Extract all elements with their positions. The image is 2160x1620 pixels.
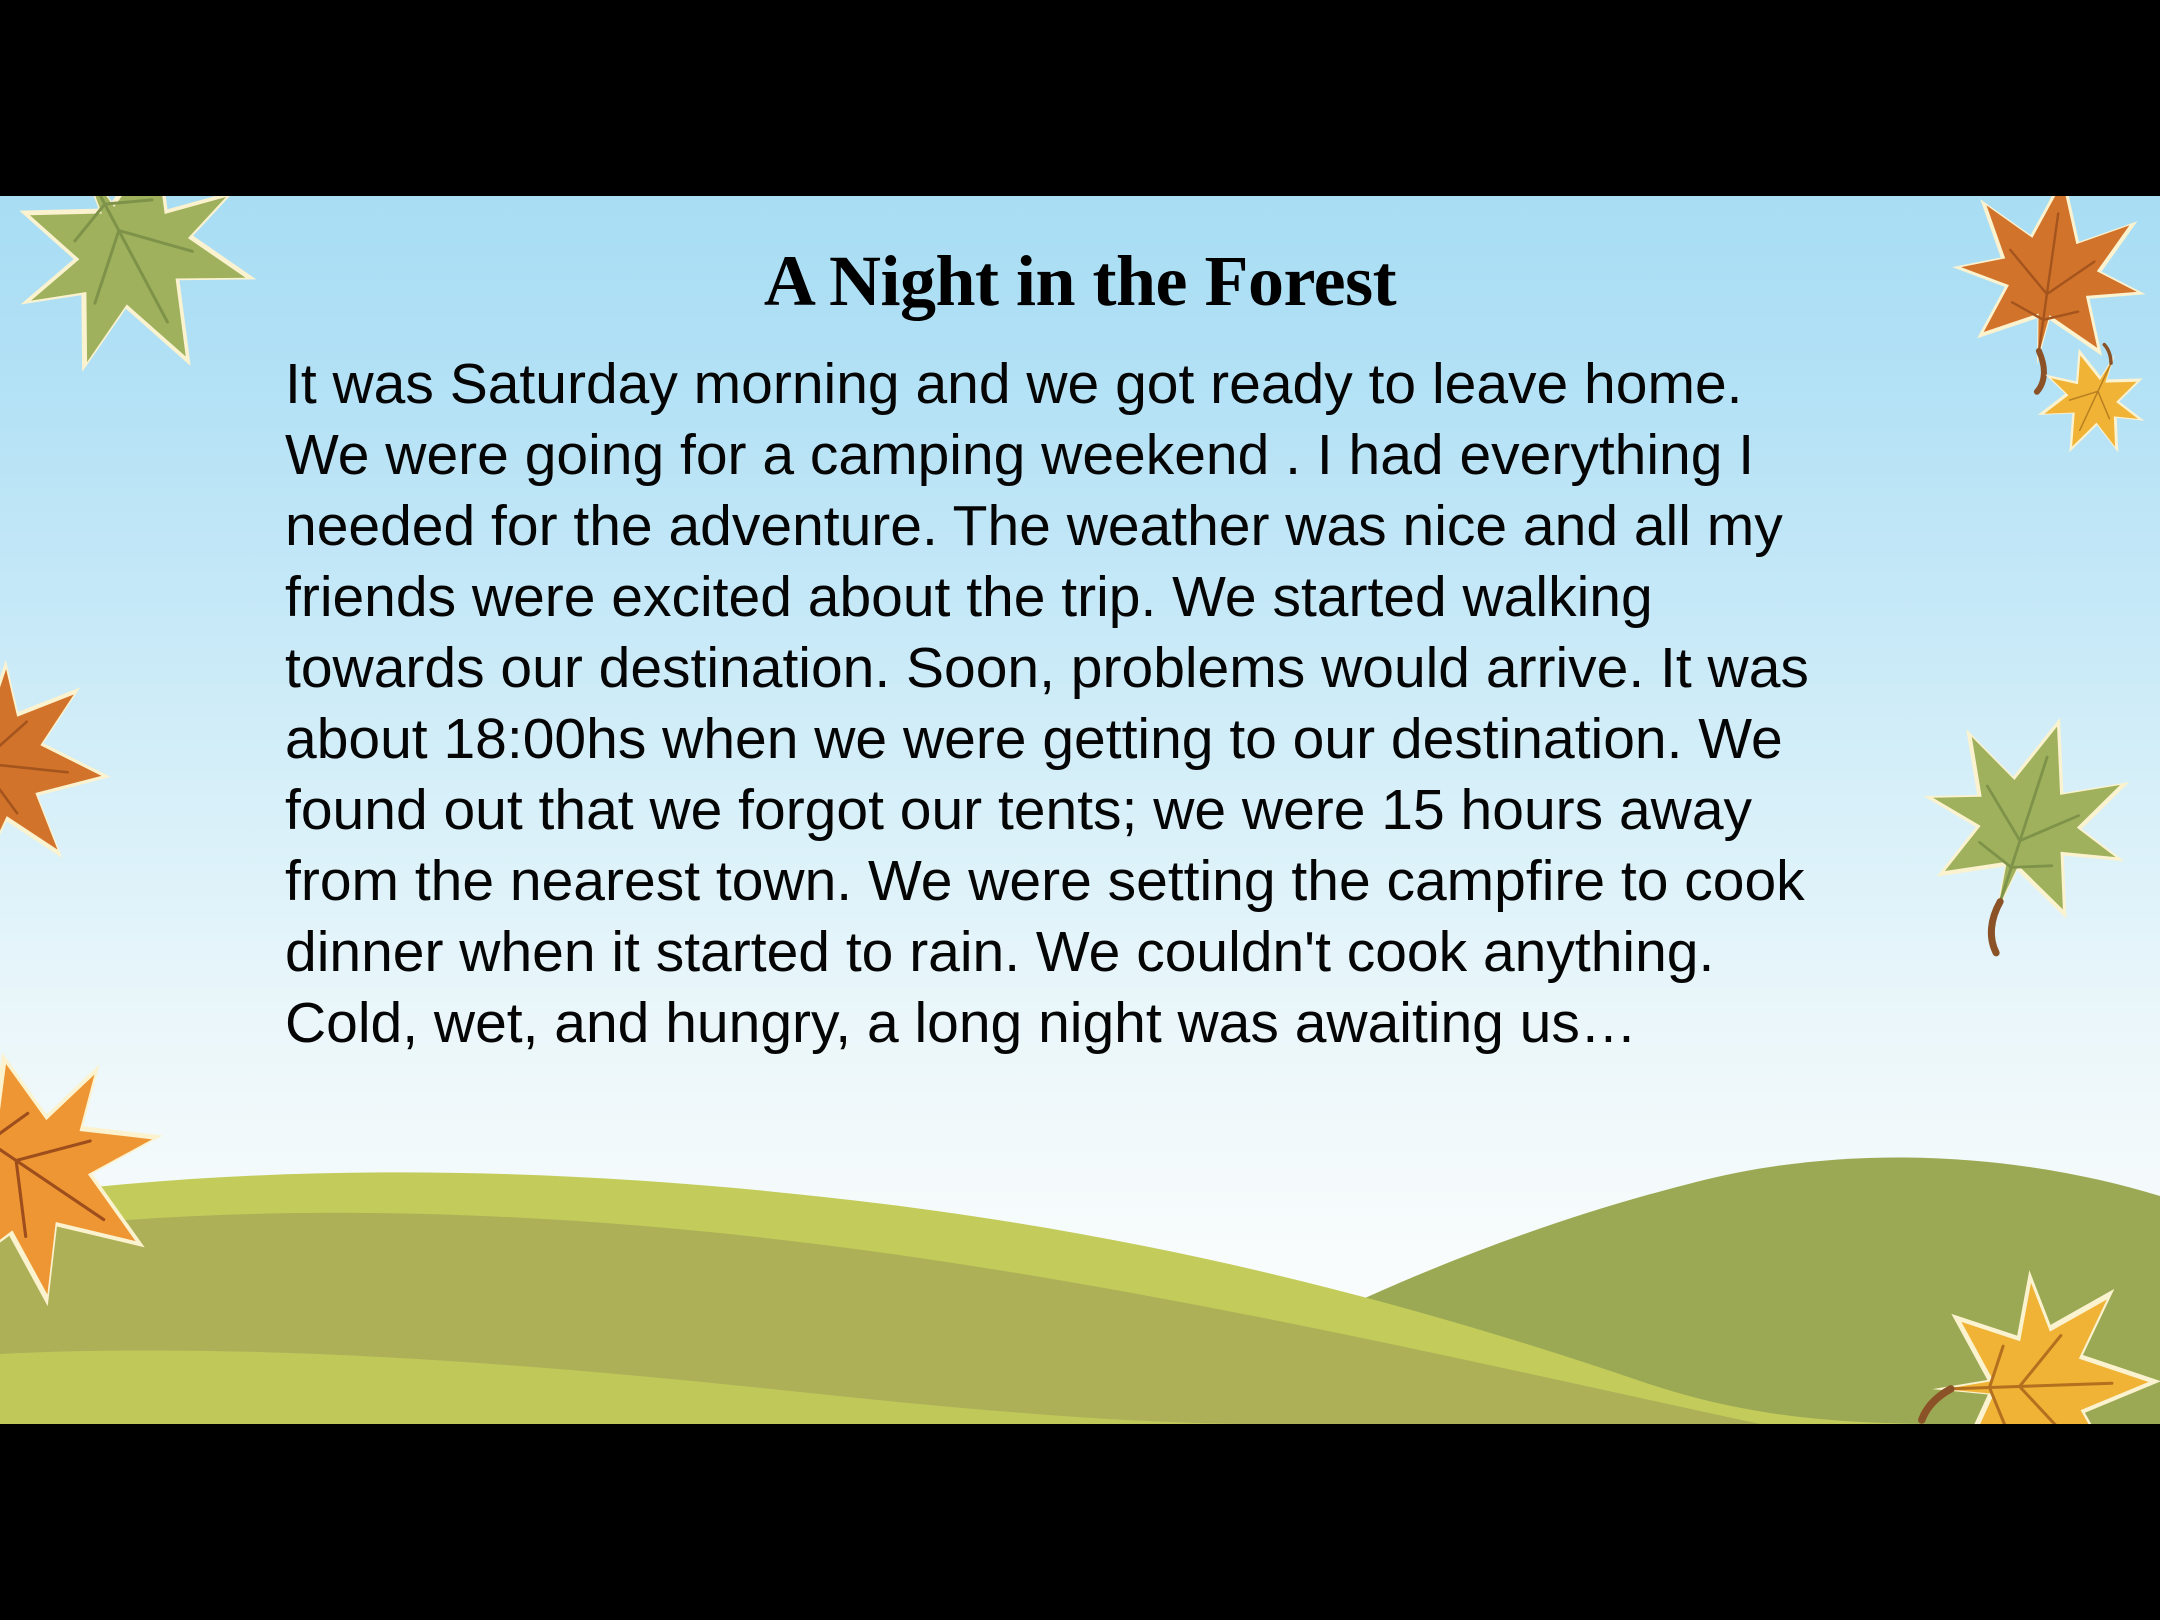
leaf-green-top-left [20, 196, 250, 376]
leaf-orange-bottom-left [0, 1058, 162, 1298]
letterbox-bottom [0, 1424, 2160, 1620]
orange-maple-leaf-icon [0, 666, 108, 866]
leaf-body [0, 1018, 200, 1337]
green-maple-leaf-icon [20, 196, 250, 376]
leaf-stem [1921, 1389, 1952, 1420]
decorative-leaves-layer [0, 196, 2160, 1424]
green-maple-leaf-icon [1928, 716, 2128, 916]
slide-frame: A Night in the Forest It was Saturday mo… [0, 0, 2160, 1620]
orange-maple-leaf-icon [1958, 196, 2143, 361]
leaf-stem [1983, 901, 2011, 953]
leaf-orange-left-edge [0, 666, 108, 866]
yellow-maple-leaf-icon [2042, 354, 2142, 454]
leaf-orange-top-right [1958, 196, 2143, 361]
orange-maple-leaf-icon [0, 1058, 162, 1298]
leaf-yellow-bottom-right [1940, 1278, 2155, 1424]
leaf-yellow-small-top-right [2042, 354, 2142, 454]
yellow-maple-leaf-icon [1940, 1278, 2155, 1424]
slide-canvas: A Night in the Forest It was Saturday mo… [0, 196, 2160, 1424]
letterbox-top [0, 0, 2160, 196]
leaf-green-right [1928, 716, 2128, 916]
